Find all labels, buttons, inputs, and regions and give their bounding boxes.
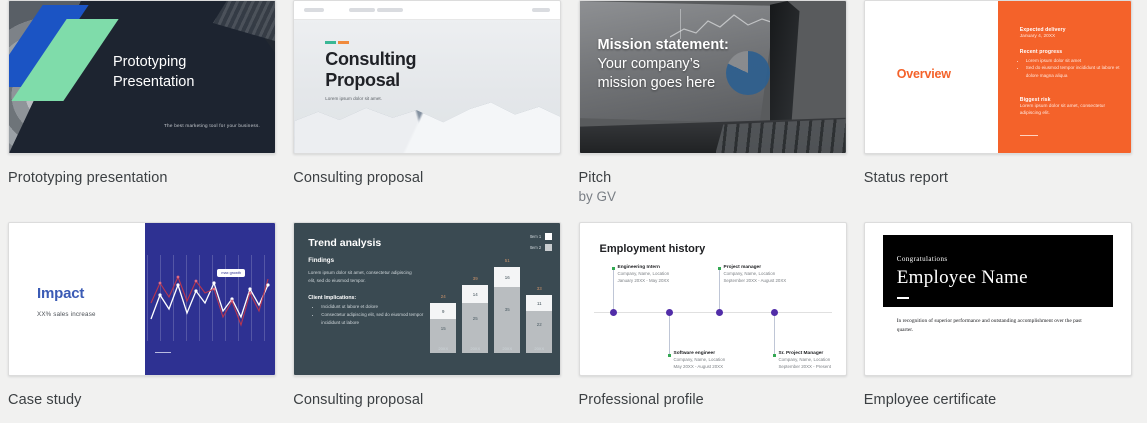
employee-name: Employee Name	[897, 267, 1028, 289]
certificate-body-text: In recognition of superior performance a…	[897, 317, 1097, 336]
bar-x-label: 20XX	[462, 346, 488, 351]
bar-value-top: 11	[537, 301, 542, 306]
slide-title: Trend analysis	[308, 237, 381, 249]
divider	[155, 352, 171, 353]
impact-subtitle: XX% sales increase	[37, 311, 96, 318]
bar-1: 24 9 15 20XX	[430, 303, 456, 353]
bar-value-top: 14	[473, 292, 478, 297]
overview-label: Overview	[897, 67, 951, 81]
bar-segment-top: 11	[526, 295, 552, 311]
event-dates: September 20XX - Present	[779, 363, 847, 370]
recent-progress-list: Lorem ipsum dolor sit amet Sed do eiusmo…	[1026, 57, 1131, 79]
card-caption: Status report	[864, 170, 1139, 186]
card-caption: Professional profile	[579, 392, 854, 408]
slide-title-line1: Consulting	[325, 49, 416, 70]
timeline-dot-4	[771, 309, 778, 316]
findings-heading: Findings	[308, 257, 334, 264]
template-card-status-report[interactable]: Overview Expected delivery January 4, 20…	[864, 0, 1139, 222]
expected-delivery-block: Expected delivery January 4, 20XX	[1020, 27, 1066, 40]
divider	[1020, 135, 1038, 136]
bar-x-label: 20XX	[494, 346, 520, 351]
bar-total: 24	[430, 294, 456, 299]
biggest-risk-text: Lorem ipsum dolor sit amet, consectetur …	[1020, 103, 1120, 118]
bar-value-top: 9	[442, 309, 444, 314]
timeline-event-2: Software engineer Company, Name, Locatio…	[674, 351, 779, 371]
legend-label: Item 1	[530, 234, 542, 239]
event-dates: September 20XX - August 20XX	[724, 277, 829, 284]
bar-x-label: 20XX	[430, 346, 456, 351]
bar-4: 33 11 22 20XX	[526, 295, 552, 353]
slide-title-line1: Prototyping	[113, 53, 194, 73]
chrome-placeholder-4	[532, 8, 550, 12]
thumbnail-trend-analysis[interactable]: Trend analysis Findings Lorem ipsum dolo…	[293, 222, 561, 376]
slide-title-line1: Mission statement:	[598, 36, 729, 55]
accent-dashes	[325, 41, 349, 44]
card-caption: Employee certificate	[864, 392, 1139, 408]
event-company: Company, Name, Location	[724, 270, 829, 277]
legend-swatch	[545, 244, 552, 251]
bar-segment-top: 16	[494, 267, 520, 287]
bar-value-bottom: 22	[526, 322, 552, 327]
event-dates: January 20XX - May 20XX	[618, 277, 723, 284]
event-company: Company, Name, Location	[674, 356, 779, 363]
timeline-dot-3	[716, 309, 723, 316]
laptop-keyboard	[716, 119, 846, 153]
list-item: Lorem ipsum dolor sit amet	[1026, 57, 1131, 64]
timeline-marker-2	[668, 354, 671, 357]
impact-title: Impact	[37, 285, 84, 302]
template-card-professional-profile[interactable]: Employment history Engineering Intern Co…	[579, 222, 854, 420]
bar-2: 39 14 25 20XX	[462, 285, 488, 353]
chrome-placeholder-3	[377, 8, 403, 12]
timeline-stem-2	[669, 315, 670, 357]
slide-title: Mission statement: Your company’s missio…	[598, 36, 729, 93]
event-dates: May 20XX - August 20XX	[674, 363, 779, 370]
thumbnail-status-report[interactable]: Overview Expected delivery January 4, 20…	[864, 0, 1132, 154]
photo-texture	[213, 1, 275, 41]
card-caption: Prototyping presentation	[8, 170, 283, 186]
template-card-consulting-proposal-2[interactable]: Trend analysis Findings Lorem ipsum dolo…	[293, 222, 568, 420]
card-subcaption: by GV	[579, 189, 854, 204]
bar-segment-top: 14	[462, 285, 488, 303]
biggest-risk-block: Biggest risk Lorem ipsum dolor sit amet,…	[1020, 97, 1120, 118]
thumbnail-prototyping-presentation[interactable]: Prototyping Presentation The best market…	[8, 0, 276, 154]
thumbnail-consulting-proposal-1[interactable]: Consulting Proposal Lorem ipsum dolor si…	[293, 0, 561, 154]
thumbnail-professional-profile[interactable]: Employment history Engineering Intern Co…	[579, 222, 847, 376]
template-card-consulting-proposal-1[interactable]: Consulting Proposal Lorem ipsum dolor si…	[293, 0, 568, 222]
list-item: Incididunt ut labore et dolore	[321, 303, 429, 311]
template-card-case-study[interactable]: Impact XX% sales increase max growth Cas…	[8, 222, 283, 420]
thumbnail-case-study[interactable]: Impact XX% sales increase max growth	[8, 222, 276, 376]
list-item: Sed do eiusmod tempor incididunt ut labo…	[1026, 64, 1131, 79]
timeline-dot-1	[610, 309, 617, 316]
timeline-marker-4	[773, 354, 776, 357]
legend-entry-2: Item 2	[530, 244, 553, 251]
implications-list: Incididunt ut labore et dolore Consectet…	[314, 303, 429, 327]
list-item: Consectetur adipiscing elit, sed do eius…	[321, 311, 429, 327]
card-caption: Pitch	[579, 170, 854, 186]
recent-progress-heading: Recent progress	[1020, 49, 1131, 55]
divider	[897, 297, 909, 299]
legend-swatch	[545, 233, 552, 240]
laptop-bezel	[770, 1, 800, 129]
bar-x-label: 20XX	[526, 346, 552, 351]
card-caption: Consulting proposal	[293, 170, 568, 186]
bar-value-top: 16	[505, 275, 510, 280]
timeline-event-4: Sr. Project Manager Company, Name, Locat…	[779, 351, 847, 371]
thumbnail-pitch[interactable]: Mission statement: Your company’s missio…	[579, 0, 847, 154]
bar-total: 51	[494, 258, 520, 263]
implications-heading: Client Implications:	[308, 295, 356, 301]
slide-title: Consulting Proposal	[325, 49, 416, 91]
timeline-marker-3	[718, 267, 721, 270]
findings-text: Lorem ipsum dolor sit amet, consectetur …	[308, 269, 418, 285]
legend-entry-1: Item 1	[530, 233, 553, 240]
timeline-marker-1	[612, 267, 615, 270]
legend-label: Item 2	[530, 245, 542, 250]
template-card-prototyping-presentation[interactable]: Prototyping Presentation The best market…	[8, 0, 283, 222]
slide-tagline: The best marketing tool for your busines…	[164, 123, 260, 128]
chrome-placeholder-1	[304, 8, 324, 12]
timeline-stem-4	[774, 315, 775, 357]
impact-line-chart	[147, 255, 271, 341]
chart-legend: Item 1 Item 2	[530, 233, 553, 255]
timeline-dot-2	[666, 309, 673, 316]
slide-title: Prototyping Presentation	[113, 53, 194, 92]
bar-value-bottom: 15	[430, 326, 456, 331]
template-card-pitch[interactable]: Mission statement: Your company’s missio…	[579, 0, 854, 222]
slide-title-line2: Your company’s	[598, 55, 729, 74]
thumbnail-employee-certificate[interactable]: Congratulations Employee Name In recogni…	[864, 222, 1132, 376]
bar-segment-top: 9	[430, 303, 456, 319]
trend-bar-chart: 24 9 15 20XX 39 14 25 20XX 51 16 35 20XX	[424, 267, 552, 367]
slide-title-line3: mission goes here	[598, 74, 729, 93]
slide-title-line2: Proposal	[325, 70, 416, 91]
slide-title: Employment history	[600, 243, 706, 255]
browser-chrome-bar	[294, 1, 560, 20]
timeline-stem-1	[613, 269, 614, 311]
expected-delivery-date: January 4, 20XX	[1020, 33, 1066, 40]
timeline-event-3: Project manager Company, Name, Location …	[724, 265, 829, 285]
event-company: Company, Name, Location	[779, 356, 847, 363]
bar-value-bottom: 35	[494, 307, 520, 312]
template-card-employee-certificate[interactable]: Congratulations Employee Name In recogni…	[864, 222, 1139, 420]
bar-3: 51 16 35 20XX	[494, 267, 520, 353]
timeline-axis	[594, 312, 832, 313]
bar-total: 39	[462, 276, 488, 281]
slide-subtitle: Lorem ipsum dolor sit amet.	[325, 96, 382, 101]
timeline-stem-3	[719, 269, 720, 311]
timeline-event-1: Engineering Intern Company, Name, Locati…	[618, 265, 723, 285]
card-caption: Consulting proposal	[293, 392, 568, 408]
bar-value-bottom: 25	[462, 316, 488, 321]
chart-tooltip: max growth	[217, 269, 245, 277]
recent-progress-block: Recent progress Lorem ipsum dolor sit am…	[1020, 49, 1131, 79]
chrome-placeholder-2	[349, 8, 375, 12]
card-caption: Case study	[8, 392, 283, 408]
pie-chart-icon	[726, 51, 770, 95]
template-gallery: Prototyping Presentation The best market…	[0, 0, 1147, 423]
bar-total: 33	[526, 286, 552, 291]
slide-title-line2: Presentation	[113, 73, 194, 93]
event-company: Company, Name, Location	[618, 270, 723, 277]
congratulations-text: Congratulations	[897, 255, 948, 263]
